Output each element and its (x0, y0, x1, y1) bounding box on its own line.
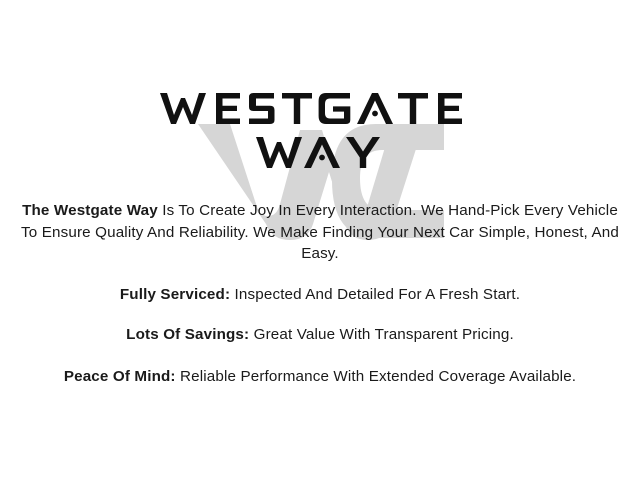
document-page: The Westgate Way Is To Create Joy In Eve… (0, 0, 640, 480)
feature-text-peace-of-mind: Reliable Performance With Extended Cover… (176, 368, 577, 385)
feature-peace-of-mind: Peace Of Mind: Reliable Performance With… (8, 366, 632, 388)
feature-lead-lots-of-savings: Lots Of Savings: (126, 326, 249, 343)
brand-wordmark (0, 58, 640, 184)
feature-fully-serviced: Fully Serviced: Inspected And Detailed F… (8, 284, 632, 306)
body-copy: The Westgate Way Is To Create Joy In Eve… (8, 200, 632, 387)
intro-lead: The Westgate Way (22, 202, 158, 219)
feature-text-lots-of-savings: Great Value With Transparent Pricing. (249, 326, 514, 343)
feature-text-fully-serviced: Inspected And Detailed For A Fresh Start… (230, 286, 520, 303)
wordmark-westgate (0, 88, 640, 128)
feature-lead-peace-of-mind: Peace Of Mind: (64, 368, 176, 385)
wordmark-way (0, 132, 640, 172)
intro-paragraph: The Westgate Way Is To Create Joy In Eve… (8, 200, 632, 265)
brand-logo (0, 58, 640, 184)
feature-lots-of-savings: Lots Of Savings: Great Value With Transp… (8, 324, 632, 346)
feature-lead-fully-serviced: Fully Serviced: (120, 286, 230, 303)
